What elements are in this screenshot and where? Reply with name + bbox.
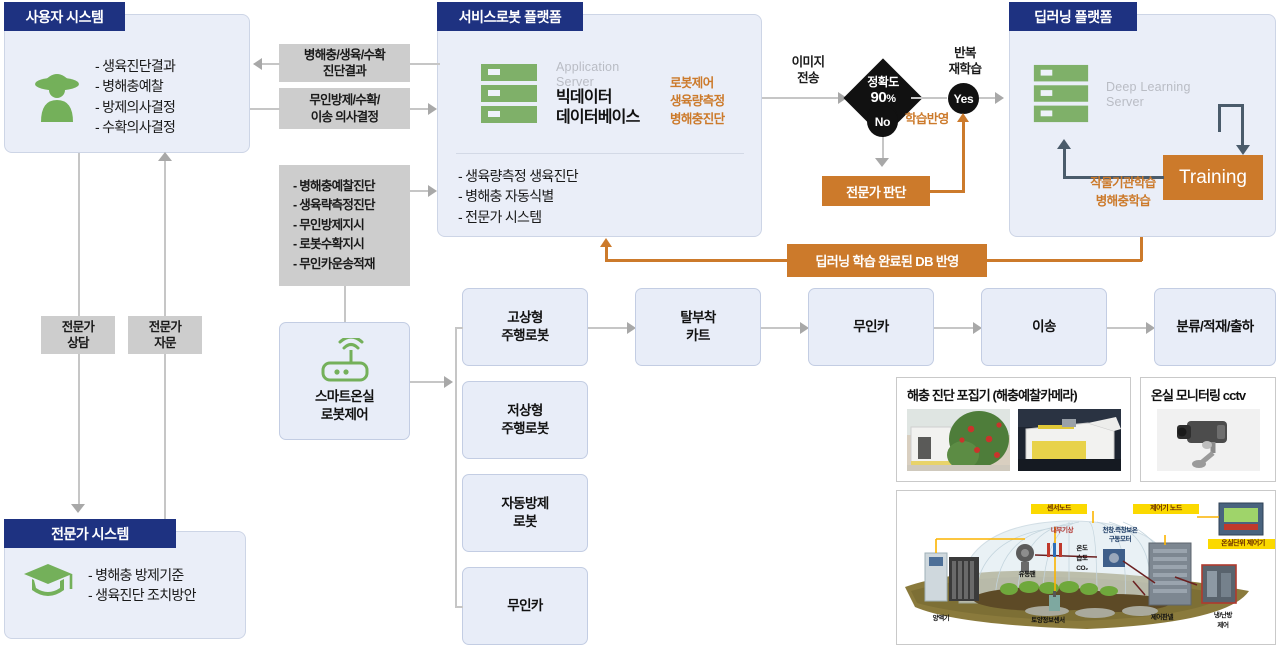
application-server-caption: Application Server: [556, 60, 666, 90]
training-input-arrow: [1236, 145, 1250, 155]
training-output-arrow: [1057, 139, 1071, 149]
card-cctv: 온실 모니터링 cctv: [1140, 377, 1276, 482]
training-label: Training: [1179, 167, 1247, 189]
line-greenhouse-to-robots: [410, 381, 444, 383]
robot-box-2[interactable]: 자동방제 로봇: [462, 474, 588, 552]
learning-tag-0: 작물기관학습: [1078, 174, 1168, 192]
bigdata-db-title-l1: 빅데이터: [556, 88, 681, 108]
panel-service-robot-platform-title-text: 서비스로봇 플랫폼: [459, 7, 561, 27]
expert-system-bullets: - 병해충 방제기준 - 생육진단 조치방안: [88, 565, 248, 606]
line-dbreflect-right: [987, 259, 1142, 262]
db-reflect-label: 딥러닝 학습 완료된 DB 반영: [815, 251, 958, 270]
line-expertsystem-to-advice: [164, 354, 166, 522]
gh-text-co2: CO₂: [1069, 565, 1095, 572]
bigdata-db-title-l2: 데이터베이스: [556, 108, 681, 128]
gh-text-internal-climate: 내부기상: [1037, 527, 1087, 534]
robot-spine-stub-3: [455, 606, 463, 608]
accuracy-decision-text: 정확도 90%: [849, 76, 917, 105]
capability-2: 병해충진단: [670, 110, 765, 128]
panel-service-robot-platform-title: 서비스로봇 플랫폼: [437, 2, 583, 31]
robot-box-0-l2: 주행로봇: [501, 327, 548, 345]
card-smart-greenhouse-illustration: 센서노드 제어기 노드 온실단위 제어기 내부기상 천창.즉창보온 구동모터 온…: [896, 490, 1276, 645]
service-platform-bullet-2: - 전문가 시스템: [458, 207, 708, 227]
label-diagnosis-result-l2: 진단결과: [304, 63, 385, 79]
flow-box-sorting-l1: 분류/적재/출하: [1176, 318, 1253, 336]
arrow-commandlist-to-platform: [428, 185, 437, 197]
db-reflect-box[interactable]: 딥러닝 학습 완료된 DB 반영: [787, 244, 987, 277]
training-output-line-up: [1063, 148, 1066, 177]
label-expert-consult-l2: 상담: [62, 335, 94, 351]
no-badge-text: No: [875, 115, 890, 129]
line-decision-to-platform: [410, 108, 428, 110]
line-user-to-consult: [78, 153, 80, 316]
line-advice-up: [164, 161, 166, 316]
deep-learning-server-caption-l2: Server: [1106, 95, 1226, 110]
gh-text-roof-motor-l2: 구동모터: [1093, 536, 1147, 543]
label-diagnosis-result: 병해충/생육/수확 진단결과: [279, 44, 410, 82]
capability-0: 로봇제어: [670, 74, 765, 92]
no-badge-circle: No: [867, 106, 898, 137]
card-insect-trap-title: 해충 진단 포집기 (해충예찰카메라): [897, 378, 1130, 409]
service-platform-bullets: - 생육량측정 생육진단 - 병해충 자동식별 - 전문가 시스템: [458, 166, 708, 227]
label-expert-advice: 전문가 자문: [128, 316, 202, 354]
thermometer-icon: [1045, 543, 1065, 559]
line-robot-to-cart: [588, 327, 627, 329]
cctv-camera-icon: [1157, 409, 1260, 471]
service-platform-divider: [456, 153, 744, 154]
expert-system-bullet-1: - 생육진단 조치방안: [88, 585, 248, 605]
panel-user-system-title-text: 사용자 시스템: [26, 7, 104, 27]
arrow-to-dl-platform: [995, 92, 1004, 104]
robot-box-0-l1: 고상형: [501, 309, 548, 327]
user-system-bullet-1: - 병해충예찰: [95, 76, 245, 96]
robot-box-3[interactable]: 무인카: [462, 567, 588, 645]
label-expert-consult-l1: 전문가: [62, 319, 94, 335]
line-diagresult-to-user: [262, 63, 280, 65]
bigdata-db-title: 빅데이터 데이터베이스: [556, 88, 681, 128]
line-consult-to-expertsystem: [78, 354, 80, 504]
label-diagnosis-result-l1: 병해충/생육/수확: [304, 47, 385, 63]
gh-text-nutrient: 양액기: [919, 615, 963, 622]
gh-text-circulation-fan: 유동팬: [1007, 571, 1047, 578]
panel-expert-system-title: 전문가 시스템: [4, 519, 176, 548]
command-list-item-4: - 무인카운송적재: [293, 255, 375, 274]
yes-badge: Yes: [948, 83, 979, 114]
deep-learning-server-rack-icon: [1030, 62, 1092, 126]
learning-tag-1: 병해충학습: [1078, 192, 1168, 210]
application-server-caption-l1: Application: [556, 60, 666, 75]
line-commandlist-to-platform: [410, 190, 428, 192]
line-expert-to-yes-vertical: [962, 122, 965, 191]
smart-greenhouse-label-l2: 로봇제어: [315, 406, 374, 424]
smart-greenhouse-control-box[interactable]: 스마트온실 로봇제어: [279, 322, 410, 440]
label-expert-advice-l2: 자문: [149, 335, 181, 351]
deep-learning-server-caption: Deep Learning Server: [1106, 80, 1226, 110]
flow-box-transfer-l1: 이송: [1032, 318, 1056, 336]
label-learning-applied-text: 학습반영: [905, 112, 949, 126]
card-cctv-title: 온실 모니터링 cctv: [1141, 378, 1275, 409]
command-list-item-3: - 로봇수확지시: [293, 235, 375, 254]
label-expert-consult: 전문가 상담: [41, 316, 115, 354]
label-decision-l2: 이송 의사결정: [309, 109, 379, 125]
robot-box-0[interactable]: 고상형 주행로봇: [462, 288, 588, 366]
line-commandlist-to-greenhouse: [344, 286, 346, 322]
line-user-to-decision: [250, 108, 280, 110]
user-system-bullet-0: - 생육진단결과: [95, 56, 245, 76]
label-decision: 무인방제/수확/ 이송 의사결정: [279, 88, 410, 129]
command-list-item-0: - 병해충예찰진단: [293, 177, 375, 196]
panel-deep-learning-platform-title: 딥러닝 플랫폼: [1009, 2, 1137, 31]
accuracy-unit: %: [886, 93, 895, 105]
panel-expert-system-title-text: 전문가 시스템: [51, 524, 129, 544]
expert-judgement-label: 전문가 판단: [846, 182, 906, 201]
robot-box-2-l2: 로봇: [501, 513, 548, 531]
arrow-to-user-system: [253, 58, 262, 70]
training-input-line-down: [1241, 104, 1244, 146]
line-dbreflect-up-to-platform: [605, 247, 608, 260]
robot-box-3-l1: 무인카: [507, 597, 542, 615]
label-learning-applied: 학습반영: [905, 110, 949, 128]
line-platform-to-diamond: [762, 97, 838, 99]
robot-box-1-l2: 주행로봇: [501, 420, 548, 438]
gh-label-sensor-node: 센서노드: [1031, 504, 1087, 514]
gh-text-soil-sensor: 토양정보센서: [1013, 617, 1083, 624]
line-car-to-transfer: [934, 327, 973, 329]
flow-box-car[interactable]: 무인카: [808, 288, 934, 366]
arrow-to-expert-system: [71, 504, 85, 513]
expert-system-bullet-0: - 병해충 방제기준: [88, 565, 248, 585]
capability-1: 생육량측정: [670, 92, 765, 110]
line-dlplatform-down: [1140, 237, 1143, 261]
label-expert-advice-l1: 전문가: [149, 319, 181, 335]
robot-box-2-l1: 자동방제: [501, 495, 548, 513]
label-decision-l1: 무인방제/수확/: [309, 92, 379, 108]
gh-text-hvac-l1: 냉/난방: [1199, 612, 1247, 619]
gh-text-control-panel: 제어판넬: [1137, 614, 1187, 621]
deep-learning-server-caption-l1: Deep Learning: [1106, 80, 1226, 95]
robot-box-1[interactable]: 저상형 주행로봇: [462, 381, 588, 459]
arrow-to-service-platform: [428, 103, 437, 115]
line-yes-to-dl-platform: [979, 97, 995, 99]
label-command-list: - 병해충예찰진단 - 생육략측정진단 - 무인방제지시 - 로봇수확지시 - …: [279, 165, 410, 286]
gh-text-hvac-l2: 제어: [1203, 622, 1243, 629]
training-input-line-vertical: [1218, 104, 1221, 132]
flow-box-transfer[interactable]: 이송: [981, 288, 1107, 366]
robot-column-spine: [455, 327, 457, 606]
user-system-bullets: - 생육진단결과 - 병해충예찰 - 방제의사결정 - 수확의사결정: [95, 56, 245, 137]
service-platform-capabilities: 로봇제어 생육량측정 병해충진단: [670, 74, 765, 128]
gh-label-greenhouse-controller: 온실단위 제어기: [1208, 539, 1276, 549]
diagram-canvas: 사용자 시스템 - 생육진단결과 - 병해충예찰 - 방제의사결정 - 수확의사…: [0, 0, 1280, 651]
gh-text-roof-motor-l1: 천창.즉창보온: [1089, 527, 1151, 534]
greenhouse-trap-photo: [907, 409, 1010, 471]
user-system-bullet-3: - 수확의사결정: [95, 117, 245, 137]
command-list-item-1: - 생육략측정진단: [293, 196, 375, 215]
arrow-no-to-expert: [875, 158, 889, 167]
arrow-advice-to-user: [158, 152, 172, 161]
line-platform-to-diagresult: [410, 63, 440, 65]
flow-box-cart-l2: 카트: [680, 327, 715, 345]
robot-box-1-l1: 저상형: [501, 402, 548, 420]
smart-greenhouse-label-l1: 스마트온실: [315, 388, 374, 406]
line-cart-to-car: [761, 327, 800, 329]
line-transfer-to-sorting: [1107, 327, 1146, 329]
service-platform-bullet-1: - 병해충 자동식별: [458, 186, 708, 206]
wifi-router-icon: [317, 338, 373, 382]
gh-text-humidity: 습도: [1069, 555, 1095, 562]
arrow-expert-to-yes: [957, 113, 969, 122]
arrow-greenhouse-to-robots: [444, 376, 453, 388]
card-insect-trap: 해충 진단 포집기 (해충예찰카메라): [896, 377, 1131, 482]
learning-tags: 작물기관학습 병해충학습: [1078, 174, 1168, 210]
trap-closeup-photo: [1018, 409, 1121, 471]
line-expert-to-yes-horizontal: [929, 190, 965, 193]
farmer-avatar-icon: [34, 62, 80, 122]
command-list-item-2: - 무인방제지시: [293, 216, 375, 235]
arrow-dbreflect-to-platform: [600, 238, 612, 247]
label-relearn-l2: 재학습: [936, 62, 994, 78]
flow-box-sorting[interactable]: 분류/적재/출하: [1154, 288, 1276, 366]
training-box[interactable]: Training: [1163, 155, 1263, 200]
yes-badge-text: Yes: [954, 92, 974, 106]
label-image-transfer: 이미지 전송: [778, 55, 838, 86]
flow-box-cart[interactable]: 탈부착 카트: [635, 288, 761, 366]
user-system-bullet-2: - 방제의사결정: [95, 97, 245, 117]
server-rack-icon: [477, 62, 541, 126]
accuracy-label: 정확도: [849, 76, 917, 89]
service-platform-bullet-0: - 생육량측정 생육진단: [458, 166, 708, 186]
label-relearn-l1: 반복: [936, 46, 994, 62]
panel-user-system-title: 사용자 시스템: [4, 2, 125, 31]
flow-box-cart-l1: 탈부착: [680, 309, 715, 327]
expert-judgement-box[interactable]: 전문가 판단: [822, 176, 930, 206]
line-dbreflect-left: [605, 259, 788, 262]
label-image-transfer-l1: 이미지: [778, 55, 838, 71]
gh-text-temp: 온도: [1069, 545, 1095, 552]
label-relearn: 반복 재학습: [936, 46, 994, 77]
line-diamond-to-yes: [911, 97, 947, 99]
line-no-to-expert: [882, 137, 884, 159]
label-image-transfer-l2: 전송: [778, 71, 838, 87]
robot-spine-stub-0: [455, 327, 463, 329]
gh-label-controller-node: 제어기 노드: [1133, 504, 1199, 514]
graduation-cap-icon: [22, 562, 74, 604]
panel-deep-learning-platform-title-text: 딥러닝 플랫폼: [1034, 7, 1112, 27]
flow-box-car-l1: 무인카: [853, 318, 888, 336]
